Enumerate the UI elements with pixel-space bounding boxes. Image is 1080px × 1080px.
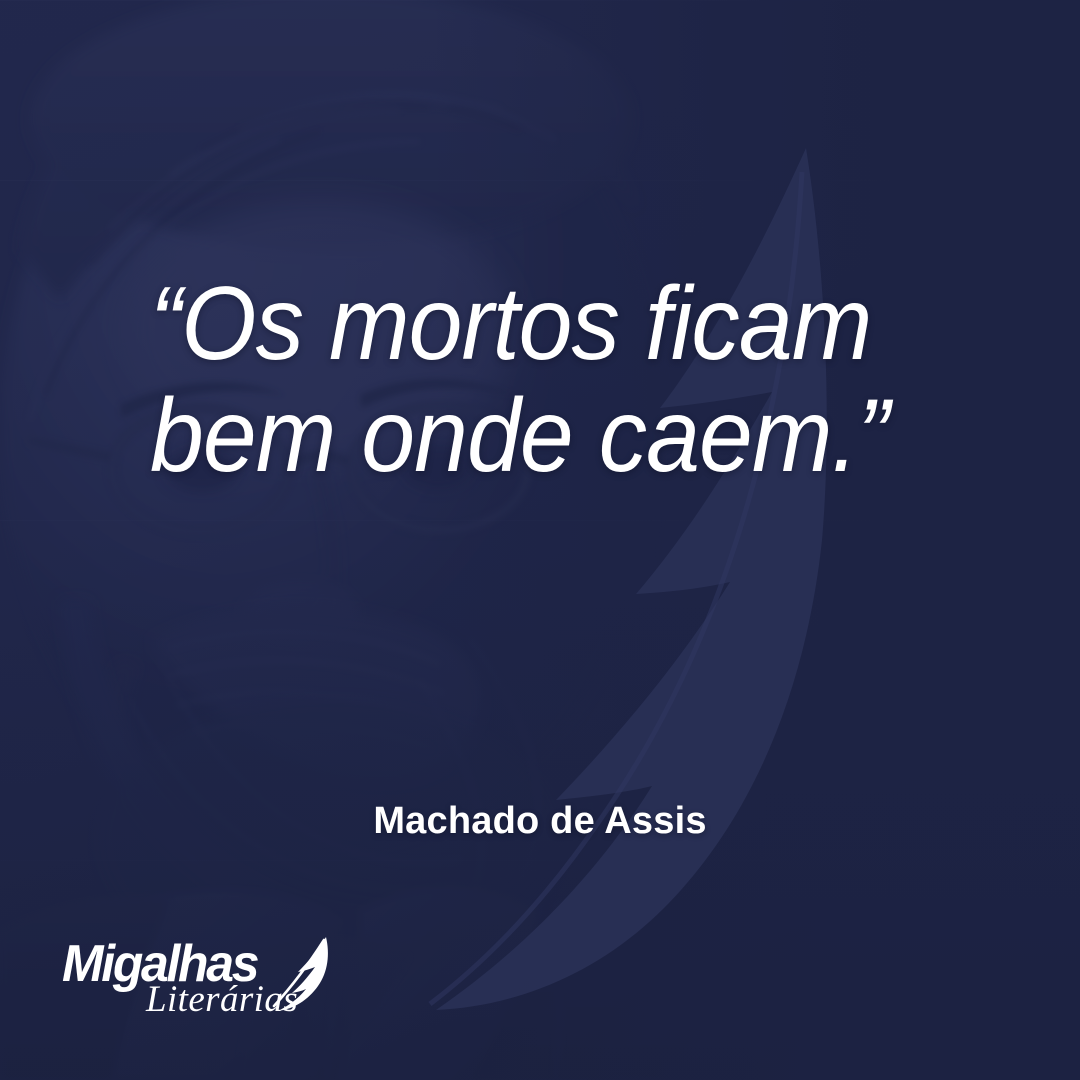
logo-subbrand-text: Literárias <box>146 981 298 1018</box>
quote-card: “Os mortos ficam bem onde caem.” Machado… <box>0 0 1080 1080</box>
quote-line-1: “Os mortos ficam <box>150 268 950 380</box>
quote-author: Machado de Assis <box>0 800 1080 843</box>
quote-line-2: bem onde caem.” <box>150 380 950 492</box>
background-portrait <box>0 0 1080 1080</box>
migalhas-literarias-logo[interactable]: Migalhas Literárias <box>62 938 362 1030</box>
quote-block: “Os mortos ficam bem onde caem.” <box>150 268 1010 492</box>
portrait-illustration <box>0 0 1080 1080</box>
